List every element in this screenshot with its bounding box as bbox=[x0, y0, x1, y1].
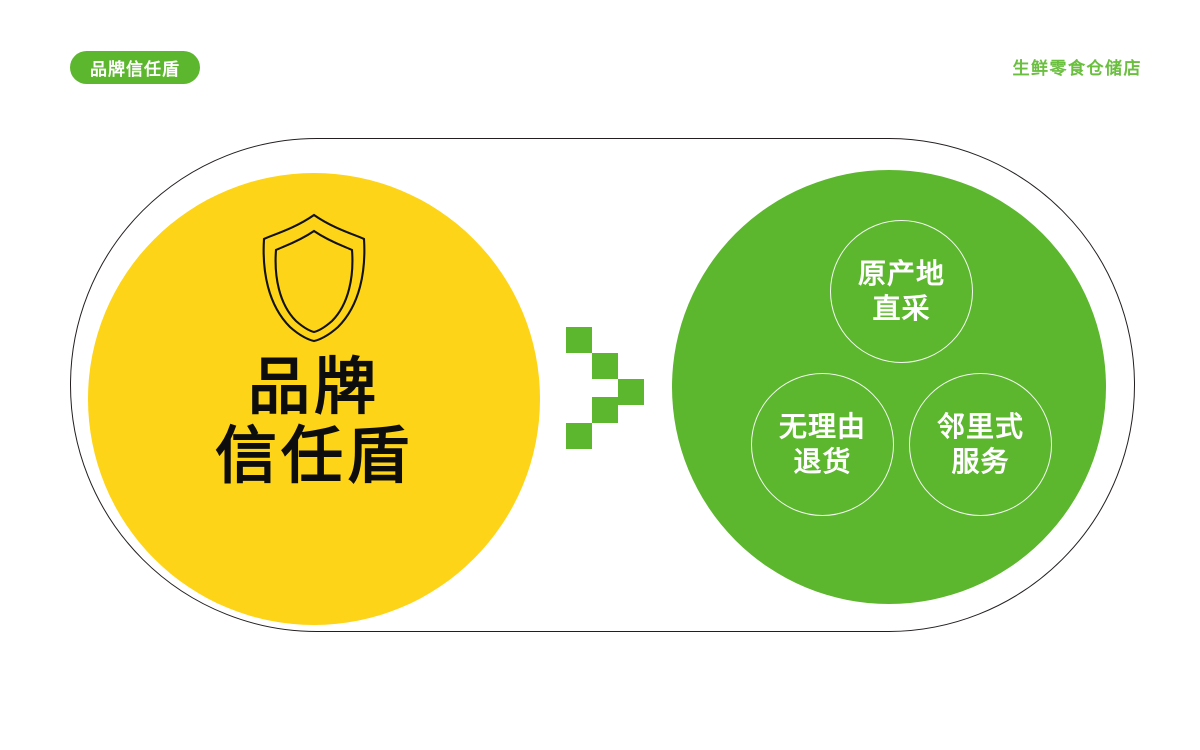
shield-icon bbox=[254, 209, 374, 344]
pillar-label-line-2: 退货 bbox=[793, 445, 851, 479]
title-line-1: 品牌 bbox=[88, 353, 540, 422]
title-line-2: 信任盾 bbox=[88, 422, 540, 491]
arrow-segment bbox=[566, 327, 592, 353]
brand-trust-shield-node[interactable]: 品牌 信任盾 bbox=[88, 173, 540, 625]
trust-pillars-node[interactable]: 原产地 直采 无理由 退货 邻里式 服务 bbox=[672, 170, 1106, 604]
pillar-label-line-1: 无理由 bbox=[779, 410, 866, 444]
arrow-segment bbox=[618, 379, 644, 405]
store-category-label: 生鲜零食仓储店 bbox=[1013, 54, 1143, 79]
pillar-label-line-1: 原产地 bbox=[858, 257, 945, 291]
brand-trust-shield-title: 品牌 信任盾 bbox=[88, 353, 540, 492]
pixel-arrow-icon bbox=[566, 327, 656, 449]
pillar-label-line-2: 服务 bbox=[951, 445, 1009, 479]
pillar-label-line-2: 直采 bbox=[872, 292, 930, 326]
pillar-no-reason-returns[interactable]: 无理由 退货 bbox=[751, 373, 894, 516]
arrow-segment bbox=[592, 397, 618, 423]
pillar-origin-direct-sourcing[interactable]: 原产地 直采 bbox=[830, 220, 973, 363]
pillar-neighborhood-service[interactable]: 邻里式 服务 bbox=[909, 373, 1052, 516]
arrow-segment bbox=[592, 353, 618, 379]
pillar-label-line-1: 邻里式 bbox=[937, 410, 1024, 444]
arrow-segment bbox=[566, 423, 592, 449]
page-header: 品牌信任盾 生鲜零食仓储店 bbox=[0, 0, 1200, 120]
brand-trust-shield-badge[interactable]: 品牌信任盾 bbox=[70, 51, 200, 84]
